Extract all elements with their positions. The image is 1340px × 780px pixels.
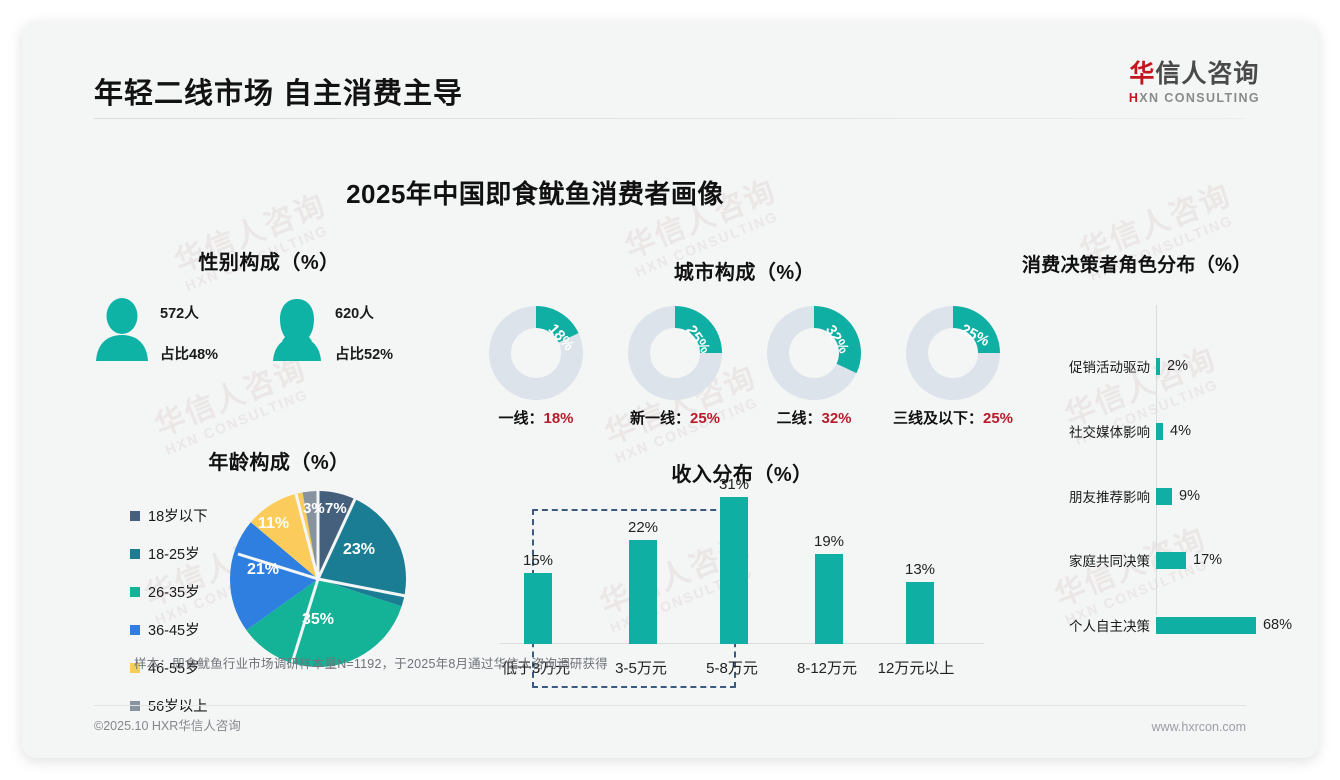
website-url[interactable]: www.hxrcon.com — [1152, 720, 1246, 734]
pie-label-36-45: 21% — [247, 561, 279, 579]
decision-value: 17% — [1193, 552, 1222, 568]
income-bar-value: 19% — [783, 533, 875, 550]
donut-item-tier3plus: 25% 三线及以下：25% — [889, 305, 1017, 428]
income-bar — [524, 573, 552, 644]
decision-label: 朋友推荐影响 — [1022, 486, 1150, 506]
decision-bar — [1156, 552, 1186, 569]
legend-swatch-icon — [130, 511, 140, 521]
gender-item-male: 572人 占比48% — [94, 297, 269, 368]
decision-value: 2% — [1167, 358, 1188, 374]
header-divider — [94, 118, 1246, 119]
income-category-label: 8-12万元 — [781, 657, 873, 678]
footer-divider — [94, 705, 1246, 706]
age-pie-chart: 7% 23% 35% 21% 11% 3% — [230, 491, 406, 667]
income-bar-item: 31% — [688, 503, 780, 644]
donut-caption-value: 25% — [690, 410, 720, 427]
income-bar-value: 31% — [688, 476, 780, 493]
income-bar-value: 13% — [874, 561, 966, 578]
decision-section: 消费决策者角色分布（%） 促销活动驱动 2% 社交媒体影响 4% 朋友推荐影响 … — [1022, 250, 1292, 615]
decision-row: 促销活动驱动 2% — [1022, 353, 1292, 379]
decision-value: 9% — [1179, 488, 1200, 504]
chart-main-title: 2025年中国即食鱿鱼消费者画像 — [22, 174, 1183, 211]
income-bar — [906, 582, 934, 644]
decision-row: 家庭共同决策 17% — [1022, 547, 1292, 573]
gender-female-count: 620人 — [335, 302, 393, 323]
legend-swatch-icon — [130, 625, 140, 635]
gender-title: 性别构成（%） — [94, 246, 444, 275]
sample-note: 样本：即食鱿鱼行业市场调研样本量N=1192，于2025年8月通过华信人咨询调研… — [134, 653, 608, 672]
income-bar-item: 13% — [874, 503, 966, 644]
donut-chart: 32% — [766, 305, 862, 401]
decision-title: 消费决策者角色分布（%） — [1022, 250, 1292, 277]
donut-chart: 25% — [627, 305, 723, 401]
legend-swatch-icon — [130, 587, 140, 597]
decision-bar — [1156, 617, 1256, 634]
legend-label: 26-35岁 — [148, 581, 200, 602]
age-legend: 18岁以下 18-25岁 26-35岁 36-45岁 46-55岁 — [94, 491, 224, 733]
donut-chart: 18% — [488, 305, 584, 401]
donut-item-tier1: 18% 一线：18% — [472, 305, 600, 428]
pie-label-56plus: 3% — [303, 500, 325, 517]
city-section: 城市构成（%） 18% 一线：18% — [472, 256, 1017, 428]
gender-female-share: 占比52% — [335, 343, 393, 364]
legend-label: 18-25岁 — [148, 543, 200, 564]
income-category-label: 3-5万元 — [595, 657, 687, 678]
male-silhouette-icon — [94, 297, 150, 368]
income-bar-item: 19% — [783, 503, 875, 644]
logo-chars-rest: 信人咨询 — [1155, 60, 1259, 88]
income-bar-value: 15% — [492, 552, 584, 569]
decision-bar — [1156, 488, 1172, 505]
decision-value: 4% — [1170, 423, 1191, 439]
age-title: 年龄构成（%） — [94, 446, 464, 475]
legend-item: 36-45岁 — [130, 619, 224, 640]
city-title: 城市构成（%） — [472, 256, 1017, 285]
income-bar — [720, 497, 748, 644]
decision-row: 个人自主决策 68% — [1022, 612, 1292, 638]
donut-caption-value: 18% — [543, 410, 573, 427]
donut-caption-tier3plus: 三线及以下：25% — [889, 407, 1017, 428]
income-category-label: 5-8万元 — [686, 657, 778, 678]
decision-label: 社交媒体影响 — [1022, 421, 1150, 441]
donut-chart: 25% — [905, 305, 1001, 401]
copyright-text: ©2025.10 HXR华信人咨询 — [94, 715, 241, 734]
logo-chinese: 华信人咨询 — [1129, 60, 1260, 89]
legend-item: 18-25岁 — [130, 543, 224, 564]
pie-label-18-25: 23% — [343, 541, 375, 559]
infographic-card: 华信人咨询 HXN CONSULTING 华信人咨询 HXN CONSULTIN… — [22, 22, 1318, 758]
logo-en-rest: XN CONSULTING — [1139, 91, 1260, 105]
donut-caption-newtier1: 新一线：25% — [611, 407, 739, 428]
income-bar-item: 22% — [597, 503, 689, 644]
gender-section: 性别构成（%） 572人 占比48% — [94, 246, 444, 368]
pie-label-46-55: 11% — [258, 515, 289, 533]
decision-bar — [1156, 358, 1160, 375]
decision-bar-chart: 促销活动驱动 2% 社交媒体影响 4% 朋友推荐影响 9% 家庭共同决策 17%… — [1022, 305, 1292, 615]
decision-label: 促销活动驱动 — [1022, 356, 1150, 376]
header: 年轻二线市场 自主消费主导 华信人咨询 HXN CONSULTING — [22, 22, 1318, 118]
donut-caption-text: 新一线： — [630, 410, 690, 427]
logo-english: HXN CONSULTING — [1129, 91, 1260, 105]
decision-value: 68% — [1263, 617, 1292, 633]
donut-caption-tier2: 二线：32% — [750, 407, 878, 428]
female-silhouette-icon — [269, 297, 325, 368]
donut-caption-tier1: 一线：18% — [472, 407, 600, 428]
legend-swatch-icon — [130, 549, 140, 559]
income-category-label: 12万元以上 — [870, 657, 962, 678]
pie-label-under18: 7% — [325, 500, 347, 517]
donut-caption-value: 25% — [983, 410, 1013, 427]
decision-row: 朋友推荐影响 9% — [1022, 483, 1292, 509]
income-bar — [815, 554, 843, 644]
donut-item-newtier1: 25% 新一线：25% — [611, 305, 739, 428]
donut-caption-value: 32% — [821, 410, 851, 427]
donut-caption-text: 一线： — [498, 410, 543, 427]
legend-item: 26-35岁 — [130, 581, 224, 602]
page-title: 年轻二线市场 自主消费主导 — [94, 70, 463, 112]
legend-item: 18岁以下 — [130, 505, 224, 526]
logo-en-h: H — [1129, 91, 1139, 105]
income-bar-item: 15% — [492, 503, 584, 644]
logo-char-hua: 华 — [1129, 60, 1155, 88]
gender-male-share: 占比48% — [160, 343, 218, 364]
decision-bar — [1156, 423, 1163, 440]
donut-caption-text: 二线： — [776, 410, 821, 427]
income-bar — [629, 540, 657, 644]
legend-label: 36-45岁 — [148, 619, 200, 640]
gender-item-female: 620人 占比52% — [269, 297, 444, 368]
income-bar-value: 22% — [597, 519, 689, 536]
donut-caption-text: 三线及以下： — [893, 410, 983, 427]
pie-label-26-35: 35% — [302, 611, 334, 629]
gender-male-count: 572人 — [160, 302, 218, 323]
brand-logo: 华信人咨询 HXN CONSULTING — [1129, 60, 1260, 105]
age-section: 年龄构成（%） 18岁以下 18-25岁 26-35岁 36-45岁 — [94, 446, 464, 733]
decision-label: 家庭共同决策 — [1022, 550, 1150, 570]
decision-row: 社交媒体影响 4% — [1022, 418, 1292, 444]
donut-item-tier2: 32% 二线：32% — [750, 305, 878, 428]
decision-label: 个人自主决策 — [1022, 615, 1150, 635]
legend-label: 18岁以下 — [148, 505, 208, 526]
